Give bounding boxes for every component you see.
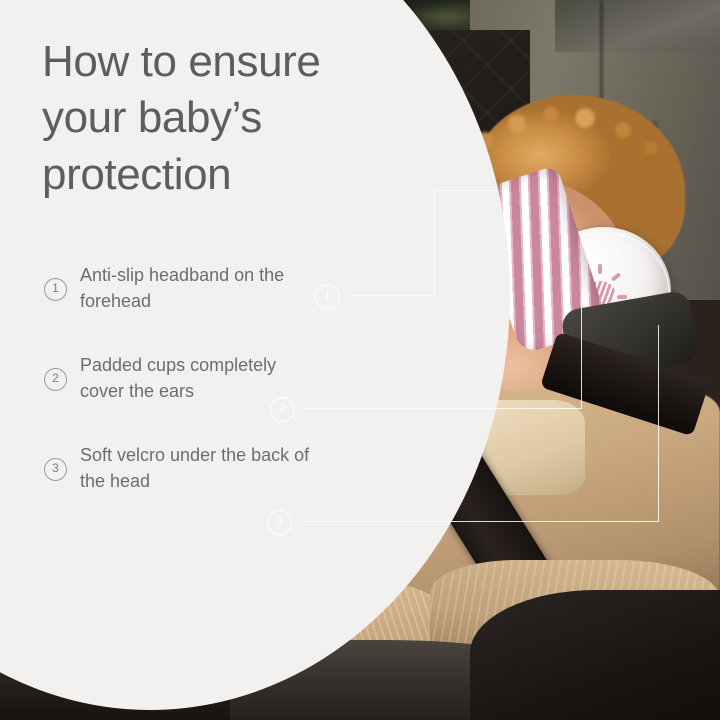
callout-marker-3[interactable]: 3 bbox=[267, 510, 292, 535]
page-title: How to ensure your baby’s protection bbox=[42, 34, 412, 203]
text-content: How to ensure your baby’s protection 1 A… bbox=[0, 0, 720, 720]
page-title-line-3: protection bbox=[42, 147, 412, 203]
list-number-badge: 1 bbox=[44, 278, 67, 301]
list-item-label: Anti-slip headband on the forehead bbox=[80, 263, 314, 314]
page-title-line-1: How to ensure bbox=[42, 34, 412, 90]
list-item-label: Soft velcro under the back of the head bbox=[80, 443, 314, 494]
list-number-badge: 2 bbox=[44, 368, 67, 391]
callout-marker-1[interactable]: 1 bbox=[315, 284, 340, 309]
list-item: 2 Padded cups completely cover the ears bbox=[44, 352, 314, 406]
callout-marker-2[interactable]: 2 bbox=[270, 397, 295, 422]
page-title-line-2: your baby’s bbox=[42, 90, 412, 146]
list-number-badge: 3 bbox=[44, 458, 67, 481]
list-item: 3 Soft velcro under the back of the head bbox=[44, 442, 314, 496]
infographic-root: How to ensure your baby’s protection 1 A… bbox=[0, 0, 720, 720]
feature-list: 1 Anti-slip headband on the forehead 2 P… bbox=[44, 262, 314, 532]
list-item: 1 Anti-slip headband on the forehead bbox=[44, 262, 314, 316]
